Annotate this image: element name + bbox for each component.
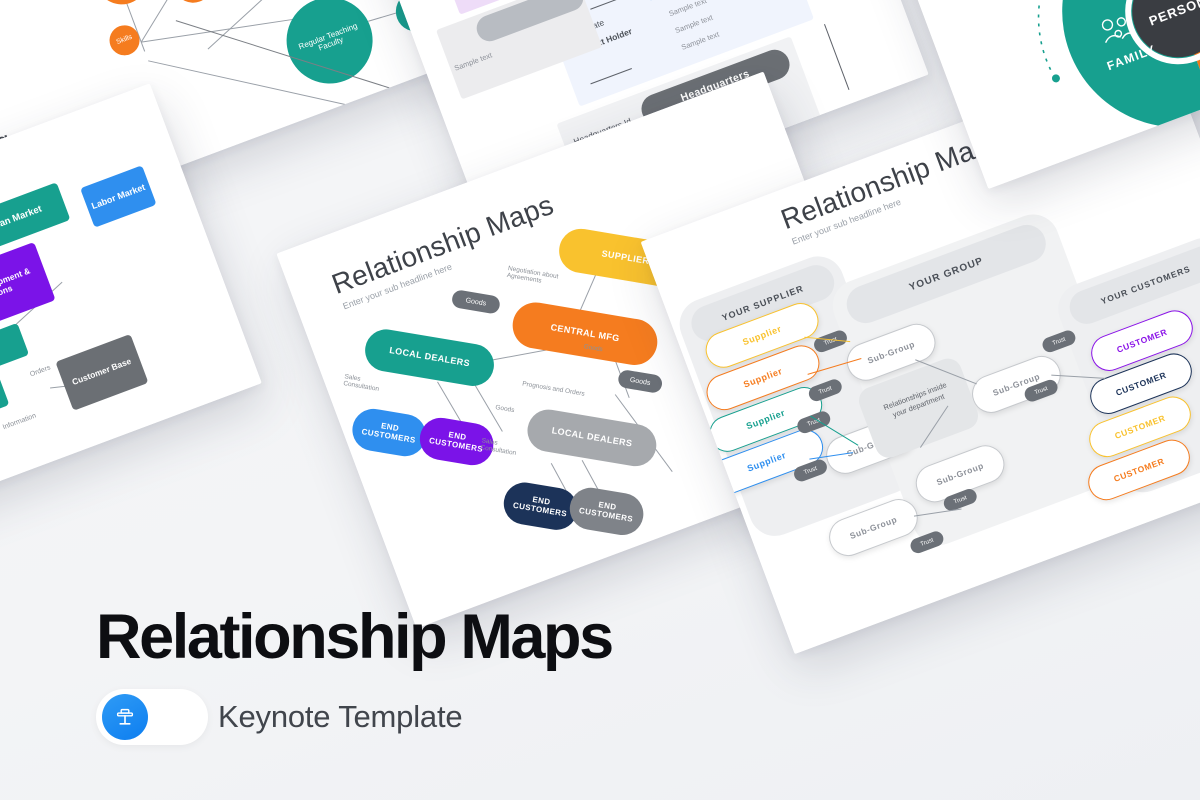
node-label: Sub-Group: [848, 514, 898, 541]
chip-label: Goods: [465, 297, 486, 307]
footer-brand-block: Relationship Maps Keynote Template: [96, 606, 916, 745]
node-label: Supplier: [745, 408, 787, 432]
slide-business-flow[interactable]: Advertising Human Market Labor Market Pr…: [0, 83, 262, 540]
node-label: Customer Base: [71, 357, 133, 388]
chip-label: Trust: [1034, 386, 1049, 396]
node-label: LOCAL DEALERS: [388, 346, 470, 369]
node-label: Sub-Group: [866, 339, 916, 366]
node-label: CENTRAL MFG: [550, 323, 620, 344]
node-label: Regular Teaching Faculty: [294, 20, 365, 60]
page-title: Relationship Maps: [96, 606, 916, 669]
node-label: END CUSTOMERS: [351, 418, 427, 448]
template-type-label: Keynote Template: [218, 699, 462, 735]
axis-label-left: For: [341, 109, 357, 123]
node-label: LOCAL DEALERS: [551, 426, 633, 449]
node-label: Human Market: [0, 204, 44, 237]
chip-label: Goods: [629, 376, 650, 386]
node-label: CUSTOMER: [1114, 370, 1167, 398]
subtitle-row: Keynote Template: [96, 689, 916, 745]
keynote-podium-icon: [102, 694, 148, 740]
node-label: END CUSTOMERS: [569, 497, 645, 527]
chip-label: Trust: [823, 336, 838, 346]
node-label: Labor Market: [90, 182, 147, 211]
template-type-badge: [96, 689, 208, 745]
node-label: Supplier: [746, 450, 788, 474]
chip-label: Trust: [920, 537, 935, 547]
node-label: END CUSTOMERS: [503, 491, 579, 521]
chip-label: Trust: [818, 385, 833, 395]
node-label: Supplier: [741, 324, 783, 348]
node-label: Supplier: [742, 366, 784, 390]
chip-label: Trust: [1052, 336, 1067, 346]
node-label: CUSTOMER: [1112, 456, 1165, 484]
poster-canvas: Centre Post Central Body SKHH Staff Redm…: [0, 0, 1200, 800]
axis-label-right: +5: [386, 93, 401, 107]
node-label: CUSTOMER: [1113, 413, 1166, 441]
chip-label: Trust: [953, 495, 968, 505]
node-label: Skills: [116, 34, 134, 47]
node-label: CUSTOMER: [1115, 327, 1168, 355]
node-label: Sub-Group: [935, 460, 985, 487]
chip-label: Trust: [803, 465, 818, 475]
